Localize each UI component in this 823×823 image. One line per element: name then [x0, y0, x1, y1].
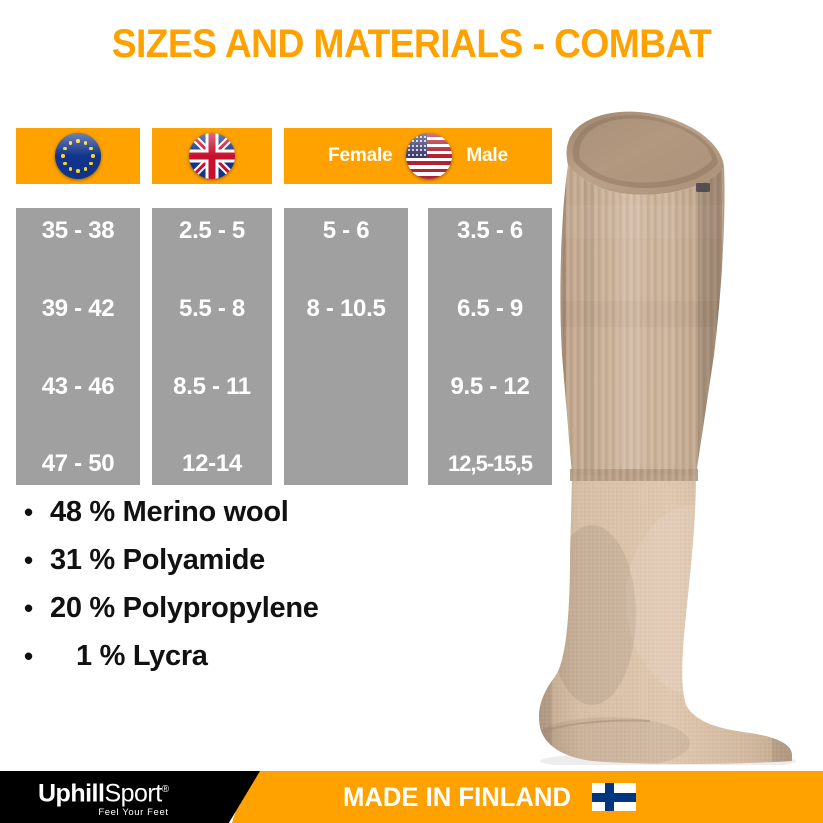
- us-star: [416, 145, 418, 147]
- size-cell: 47 - 50: [16, 449, 140, 479]
- eu-star: [69, 141, 73, 145]
- us-stripe: [406, 169, 452, 173]
- us-star: [416, 140, 418, 142]
- us-stripe: [406, 161, 452, 165]
- bullet-icon: •: [24, 499, 50, 525]
- size-table: Female Male 35 - 38 39 - 42 43 - 46 47 -…: [0, 0, 560, 500]
- size-cell: 39 - 42: [16, 294, 140, 324]
- uk-flag-icon: [189, 133, 235, 179]
- list-item: • 1 % Lycra: [24, 640, 474, 688]
- size-cell: 5.5 - 8: [152, 294, 272, 324]
- size-column-eu: 35 - 38 39 - 42 43 - 46 47 - 50: [16, 208, 140, 485]
- made-in-text: MADE IN FINLAND: [342, 782, 570, 813]
- material-text: 31 % Polyamide: [50, 544, 265, 577]
- eu-star: [76, 169, 80, 173]
- us-stripe: [406, 176, 452, 179]
- finland-flag-icon: [592, 783, 636, 811]
- us-star: [420, 154, 422, 156]
- eu-star: [84, 167, 88, 171]
- size-column-us-female: 5 - 6 8 - 10.5: [284, 208, 408, 485]
- bullet-icon: •: [24, 643, 50, 669]
- us-star: [420, 149, 422, 151]
- size-cell: 8 - 10.5: [284, 294, 408, 324]
- eu-star: [76, 139, 80, 143]
- us-star: [416, 154, 418, 156]
- table-header-eu: [16, 128, 140, 184]
- list-item: • 31 % Polyamide: [24, 544, 474, 592]
- eu-star: [84, 141, 88, 145]
- us-star: [408, 136, 410, 138]
- us-flag-canton: [406, 133, 427, 158]
- us-star: [424, 140, 426, 142]
- size-cell: 12-14: [152, 449, 272, 479]
- sock-foot: [530, 465, 810, 765]
- us-star: [412, 149, 414, 151]
- sock-transition-band: [570, 469, 698, 481]
- table-header-uk: [152, 128, 272, 184]
- materials-list: • 48 % Merino wool • 31 % Polyamide • 20…: [24, 496, 474, 688]
- us-star: [424, 154, 426, 156]
- sock-cuff-opening: [567, 112, 724, 195]
- us-star: [412, 145, 414, 147]
- material-text: 20 % Polypropylene: [50, 592, 319, 625]
- us-star: [416, 136, 418, 138]
- us-star: [416, 149, 418, 151]
- size-column-uk: 2.5 - 5 5.5 - 8 8.5 - 11 12-14: [152, 208, 272, 485]
- sock-cuff: [540, 155, 760, 485]
- size-cell: 43 - 46: [16, 372, 140, 402]
- us-star: [412, 136, 414, 138]
- size-cell: 2.5 - 5: [152, 216, 272, 246]
- us-star: [424, 149, 426, 151]
- size-cell: 35 - 38: [16, 216, 140, 246]
- us-star: [424, 145, 426, 147]
- eu-star: [89, 162, 93, 166]
- flag-gloss: [55, 133, 101, 156]
- footer-bar: UphillSport® Feel Your Feet MADE IN FINL…: [0, 771, 823, 823]
- size-cell: 8.5 - 11: [152, 372, 272, 402]
- eu-star: [63, 162, 67, 166]
- combat-sock-photo: [500, 55, 823, 765]
- eu-star: [69, 167, 73, 171]
- us-star: [408, 154, 410, 156]
- us-star: [408, 149, 410, 151]
- us-star: [412, 140, 414, 142]
- size-cell: [284, 372, 408, 402]
- bullet-icon: •: [24, 547, 50, 573]
- size-cell: 5 - 6: [284, 216, 408, 246]
- us-female-label: Female: [328, 145, 392, 167]
- eu-star: [63, 147, 67, 151]
- size-cell: [284, 449, 408, 479]
- eu-flag-icon: [55, 133, 101, 179]
- us-star: [408, 145, 410, 147]
- us-star: [420, 145, 422, 147]
- eu-star: [91, 154, 95, 158]
- bullet-icon: •: [24, 595, 50, 621]
- list-item: • 20 % Polypropylene: [24, 592, 474, 640]
- material-text: 1 % Lycra: [50, 640, 208, 673]
- list-item: • 48 % Merino wool: [24, 496, 474, 544]
- us-star: [424, 136, 426, 138]
- us-star: [420, 136, 422, 138]
- eu-star: [61, 154, 65, 158]
- eu-star: [89, 147, 93, 151]
- material-text: 48 % Merino wool: [50, 496, 289, 529]
- us-star: [412, 154, 414, 156]
- sock-brand-tab: [696, 183, 710, 192]
- made-in-group: MADE IN FINLAND: [0, 771, 823, 823]
- us-star: [408, 140, 410, 142]
- us-flag-icon: [406, 133, 452, 179]
- us-star: [420, 140, 422, 142]
